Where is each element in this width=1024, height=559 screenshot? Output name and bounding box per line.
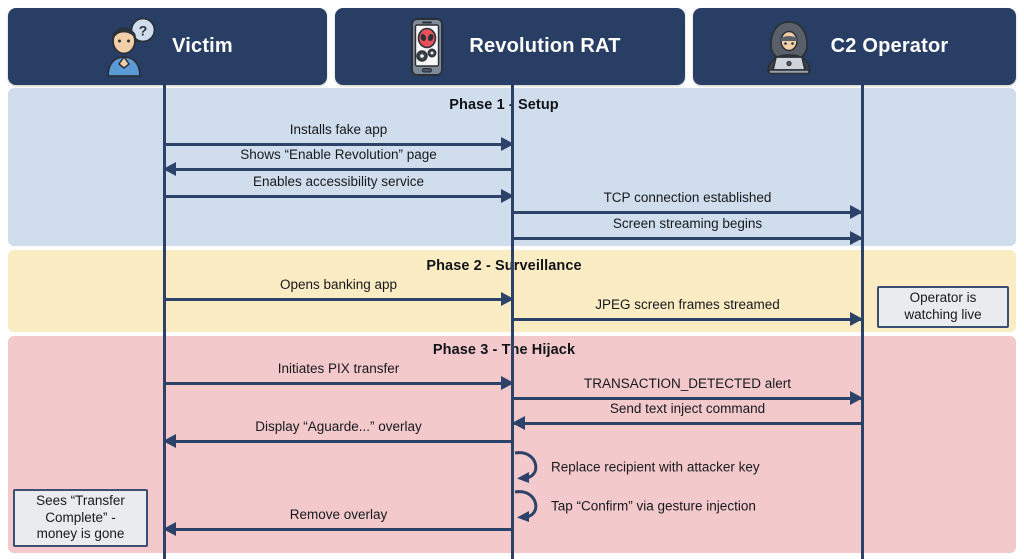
hacker-with-laptop-icon (761, 16, 817, 78)
actor-label-revolution-rat: Revolution RAT (469, 35, 620, 58)
note-victim-text: Sees “Transfer Complete” - money is gone (36, 493, 125, 544)
message-line (164, 440, 513, 443)
self-message-label: Tap “Confirm” via gesture injection (551, 499, 756, 514)
actor-label-victim: Victim (172, 35, 233, 58)
self-message-replace-recipient: Replace recipient with attacker key (513, 449, 853, 485)
self-message-tap-confirm: Tap “Confirm” via gesture injection (513, 488, 853, 524)
message-label: Display “Aguarde...” overlay (164, 419, 513, 434)
phase-label-setup: Phase 1 - Setup (0, 97, 1008, 113)
message-label: TRANSACTION_DETECTED alert (513, 376, 862, 391)
message-label: JPEG screen frames streamed (513, 297, 862, 312)
message-line (513, 422, 862, 425)
message-line (164, 168, 513, 171)
message-line (513, 397, 862, 400)
message-label: Shows “Enable Revolution” page (164, 147, 513, 162)
message-label: Remove overlay (164, 507, 513, 522)
note-operator-watching: Operator is watching live (877, 286, 1009, 328)
note-operator-text: Operator is watching live (904, 290, 981, 324)
message-label: Screen streaming begins (513, 216, 862, 231)
message-label: Send text inject command (513, 401, 862, 416)
sequence-diagram: Phase 1 - Setup Phase 2 - Surveillance P… (0, 0, 1024, 559)
phase-label-surveillance: Phase 2 - Surveillance (0, 258, 1008, 274)
arrowhead-right-icon (850, 312, 863, 326)
arrowhead-left-icon (512, 416, 525, 430)
svg-text:?: ? (139, 22, 148, 38)
actor-header-c2-operator[interactable]: C2 Operator (693, 8, 1016, 85)
message-label: TCP connection established (513, 190, 862, 205)
self-loop-arrow-icon (513, 449, 553, 485)
arrowhead-left-icon (163, 434, 176, 448)
message-label: Opens banking app (164, 277, 513, 292)
message-line (513, 318, 862, 321)
message-line (164, 195, 513, 198)
actor-label-c2-operator: C2 Operator (831, 35, 949, 58)
message-line (513, 211, 862, 214)
message-label: Installs fake app (164, 122, 513, 137)
message-line (513, 237, 862, 240)
phase-label-hijack: Phase 3 - The Hijack (0, 342, 1008, 358)
arrowhead-right-icon (850, 231, 863, 245)
message-label: Initiates PIX transfer (164, 361, 513, 376)
actor-header-revolution-rat[interactable]: Revolution RAT (335, 8, 685, 85)
message-line (164, 298, 513, 301)
message-label: Enables accessibility service (164, 174, 513, 189)
person-with-question-icon: ? (102, 16, 158, 78)
message-line (164, 382, 513, 385)
message-line (164, 528, 513, 531)
self-message-label: Replace recipient with attacker key (551, 460, 760, 475)
actor-header-victim[interactable]: ? Victim (8, 8, 327, 85)
phone-alien-malware-icon (399, 16, 455, 78)
self-loop-arrow-icon (513, 488, 553, 524)
note-victim-transfer-complete: Sees “Transfer Complete” - money is gone (13, 489, 148, 547)
arrowhead-left-icon (163, 522, 176, 536)
message-line (164, 143, 513, 146)
